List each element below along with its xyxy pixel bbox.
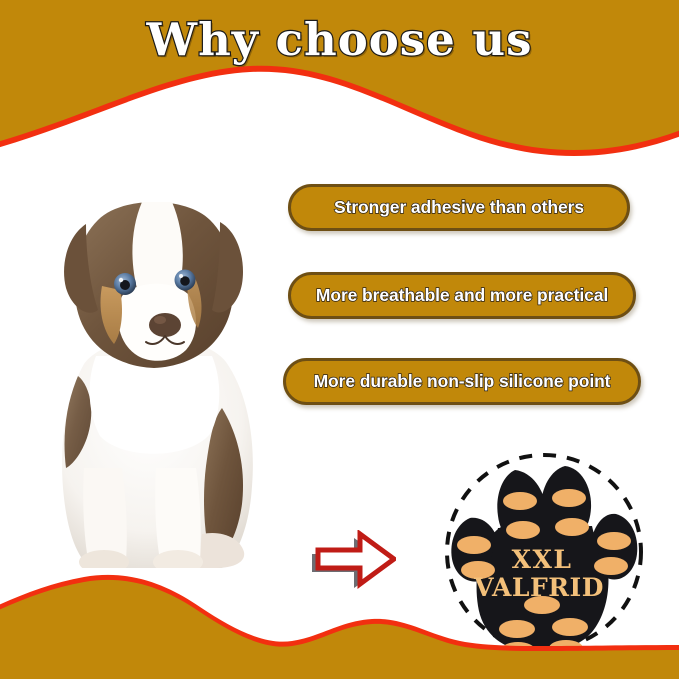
feature-pill-label: More durable non-slip silicone point	[314, 371, 611, 392]
promo-banner-page: Why choose us	[0, 0, 679, 679]
page-title: Why choose us	[0, 13, 679, 66]
feature-pill-1[interactable]: More breathable and more practical	[288, 272, 636, 319]
bottom-wave	[0, 549, 679, 679]
feature-pill-2[interactable]: More durable non-slip silicone point	[283, 358, 641, 405]
puppy-ruff	[90, 356, 220, 454]
puppy-eye-glint-right	[179, 274, 183, 278]
feature-pill-label: Stronger adhesive than others	[334, 197, 584, 218]
top-banner: Why choose us	[0, 0, 679, 175]
puppy-nose	[149, 313, 181, 337]
puppy-eye-glint-left	[119, 278, 123, 282]
feature-pill-0[interactable]: Stronger adhesive than others	[288, 184, 630, 231]
puppy-photo	[26, 168, 286, 568]
puppy-nose-highlight	[154, 316, 166, 324]
feature-pill-label: More breathable and more practical	[316, 285, 608, 306]
